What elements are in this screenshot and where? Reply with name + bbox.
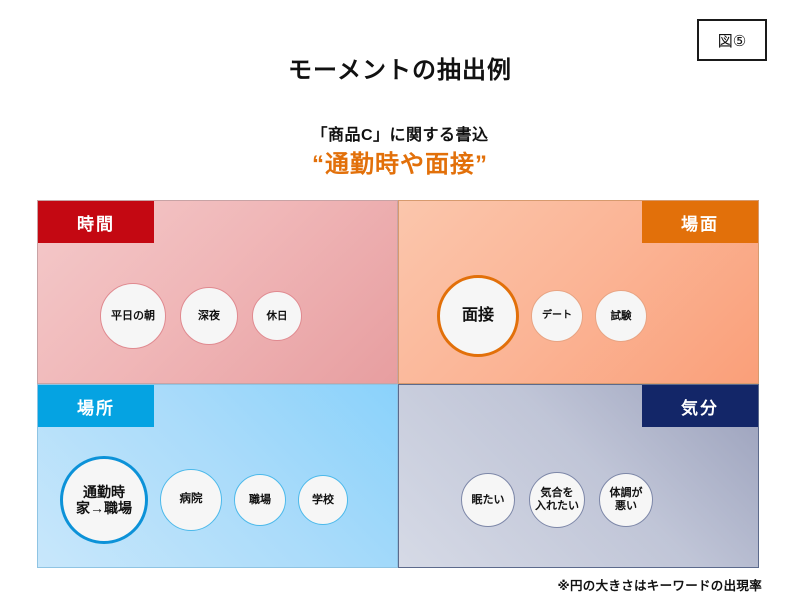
keyword-bubble-label: 職場: [249, 494, 271, 507]
keyword-bubble-label: 面接: [462, 307, 494, 325]
keyword-bubble-label: 平日の朝: [111, 310, 155, 323]
keyword-bubble-line: 病院: [180, 493, 203, 506]
bubble-row-place: 通勤時家→職場病院職場学校: [38, 439, 397, 561]
quadrant-header-label: 時間: [77, 210, 115, 235]
quadrant-header-time: 時間: [38, 201, 154, 243]
keyword-bubble[interactable]: デート: [531, 290, 583, 342]
keyword-bubble-line: 家→職場: [76, 500, 132, 516]
keyword-bubble-highlighted[interactable]: 通勤時家→職場: [60, 456, 148, 544]
keyword-bubble[interactable]: 職場: [234, 474, 286, 526]
keyword-bubble[interactable]: 体調が悪い: [599, 473, 653, 527]
keyword-bubble-line: 悪い: [610, 500, 643, 513]
figure-number-text: 図⑤: [718, 30, 746, 51]
keyword-bubble-line: 体調が: [610, 487, 643, 500]
bubble-row-mood: 眠たい気合を入れたい体調が悪い: [399, 439, 758, 561]
quadrant-header-scene: 場面: [642, 201, 758, 243]
keyword-bubble-line: 通勤時: [76, 484, 132, 500]
page-title: モーメントの抽出例: [0, 50, 800, 85]
keyword-bubble-label: 深夜: [198, 310, 220, 323]
keyword-bubble-label: 眠たい: [472, 494, 505, 507]
keyword-bubble-line: 気合を: [535, 487, 579, 500]
keyword-bubble[interactable]: 眠たい: [461, 473, 515, 527]
quadrant-header-label: 気分: [681, 394, 719, 419]
quadrant-time: 時間平日の朝深夜休日: [37, 200, 398, 384]
keyword-bubble-label: 休日: [267, 310, 288, 322]
keyword-bubble-line: デート: [542, 310, 572, 322]
keyword-bubble[interactable]: 深夜: [180, 287, 238, 345]
keyword-bubble-line: 面接: [462, 307, 494, 325]
keyword-bubble-label: 気合を入れたい: [535, 487, 579, 512]
quadrant-mood: 気分眠たい気合を入れたい体調が悪い: [398, 384, 759, 568]
bubble-row-scene: 面接デート試験: [399, 255, 758, 377]
quadrant-header-label: 場面: [681, 210, 719, 235]
quadrant-header-label: 場所: [77, 394, 115, 419]
keyword-bubble-label: 体調が悪い: [610, 487, 643, 512]
keyword-bubble-line: 職場: [249, 494, 271, 507]
keyword-bubble-line: 試験: [611, 310, 632, 322]
keyword-bubble[interactable]: 気合を入れたい: [529, 472, 585, 528]
keyword-bubble-label: 学校: [312, 494, 334, 507]
quadrant-header-mood: 気分: [642, 385, 758, 427]
keyword-bubble-label: 通勤時家→職場: [76, 484, 132, 516]
bubble-row-time: 平日の朝深夜休日: [38, 255, 397, 377]
keyword-bubble-line: 休日: [267, 310, 288, 322]
keyword-bubble[interactable]: 休日: [252, 291, 302, 341]
subtitle-block: 「商品C」に関する書込 “通勤時や面接”: [0, 126, 800, 181]
keyword-bubble-line: 眠たい: [472, 494, 505, 507]
quadrant-header-place: 場所: [38, 385, 154, 427]
keyword-bubble-line: 深夜: [198, 310, 220, 323]
quadrant-place: 場所通勤時家→職場病院職場学校: [37, 384, 398, 568]
keyword-bubble[interactable]: 学校: [298, 475, 348, 525]
keyword-bubble[interactable]: 試験: [595, 290, 647, 342]
keyword-bubble-highlighted[interactable]: 面接: [437, 275, 519, 357]
keyword-bubble-label: デート: [542, 310, 572, 322]
keyword-bubble-line: 学校: [312, 494, 334, 507]
keyword-bubble[interactable]: 平日の朝: [100, 283, 166, 349]
keyword-bubble-label: 試験: [611, 310, 632, 322]
keyword-bubble[interactable]: 病院: [160, 469, 222, 531]
subtitle-text: 「商品C」に関する書込: [0, 126, 800, 146]
moment-matrix: 時間平日の朝深夜休日場面面接デート試験場所通勤時家→職場病院職場学校気分眠たい気…: [37, 200, 759, 568]
keyword-bubble-line: 平日の朝: [111, 310, 155, 323]
subtitle-highlight-text: “通勤時や面接”: [0, 150, 800, 181]
quadrant-scene: 場面面接デート試験: [398, 200, 759, 384]
footnote: ※円の大きさはキーワードの出現率: [558, 575, 762, 594]
keyword-bubble-line: 入れたい: [535, 500, 579, 513]
keyword-bubble-label: 病院: [180, 493, 203, 506]
